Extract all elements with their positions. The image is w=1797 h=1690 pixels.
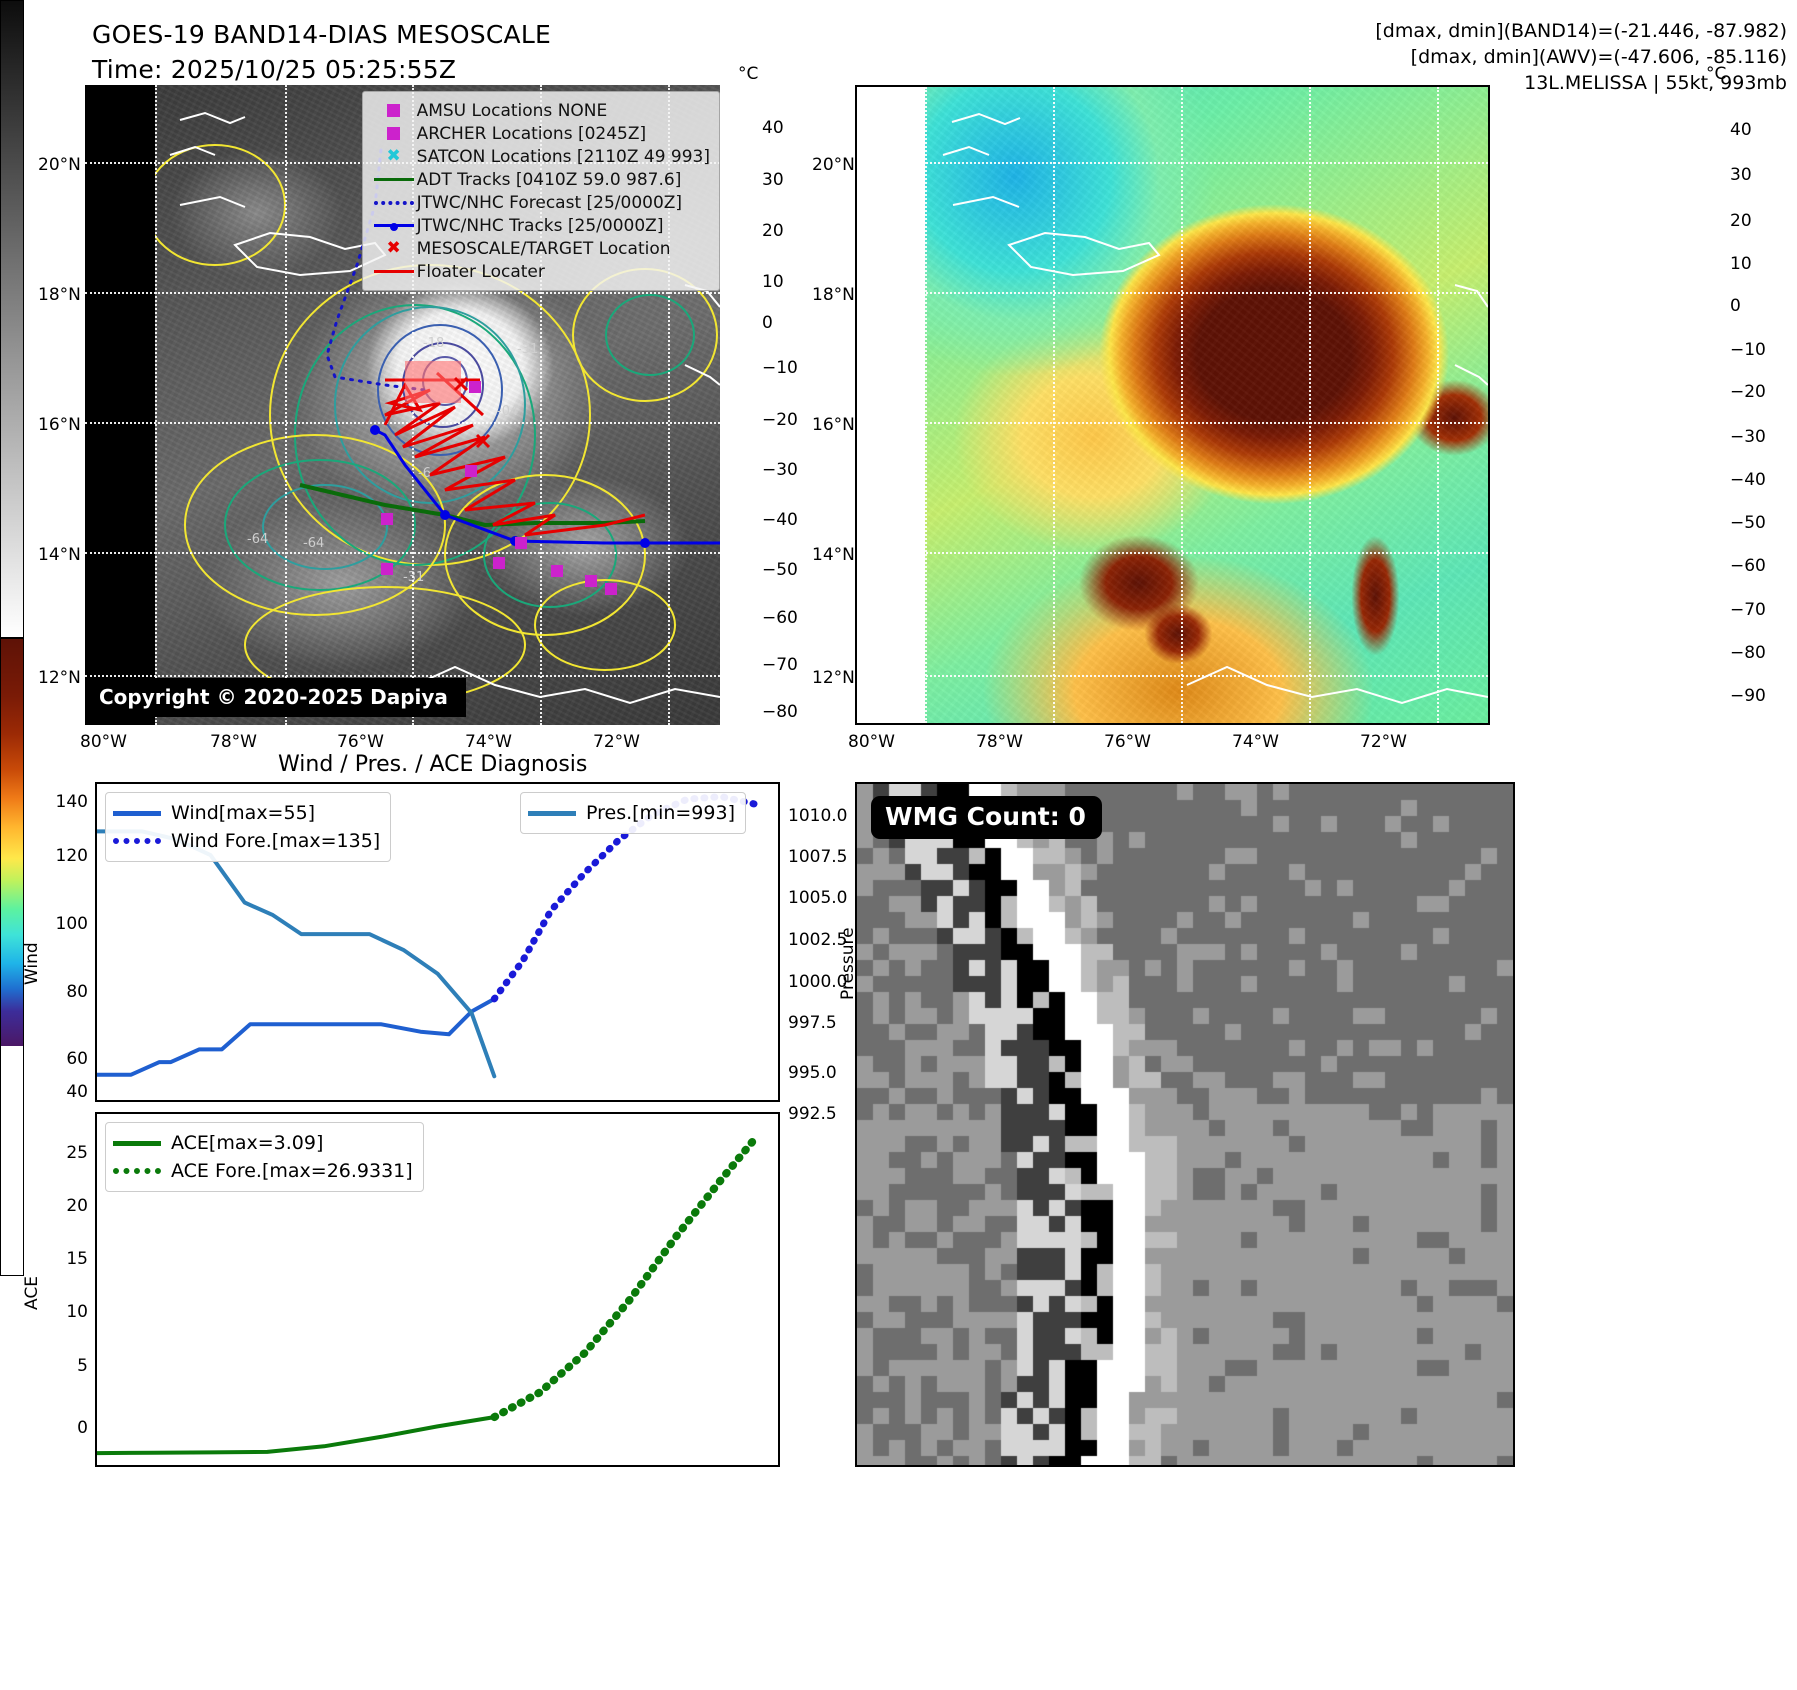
awv-cb-tick: −80 (1730, 643, 1766, 663)
awv-cb-tick: 0 (1730, 296, 1741, 316)
legend-item: Wind Fore.[max=135] (113, 827, 380, 855)
ir-cb-tick: −40 (762, 510, 798, 530)
awv-lon-tick: 72°W (1360, 732, 1407, 752)
ir-cb-tick: −80 (762, 702, 798, 722)
awv-lat-tick: 12°N (812, 668, 855, 688)
copyright-banner: Copyright © 2020-2025 Dapiya (85, 678, 466, 717)
wmg-mosaic-panel[interactable]: WMG Count: 0 (855, 782, 1515, 1467)
awv-colorbar (0, 638, 24, 1276)
wmg-count-badge: WMG Count: 0 (871, 796, 1102, 839)
awv-lat-tick: 18°N (812, 285, 855, 305)
awv-lon-tick: 76°W (1104, 732, 1151, 752)
legend-item: Floater Locater (371, 260, 710, 283)
awv-cb-tick: 40 (1730, 120, 1752, 140)
ir-lon-tick: 76°W (337, 732, 384, 752)
legend-item: AMSU Locations NONE (371, 99, 710, 122)
legend-item: JTWC/NHC Forecast [25/0000Z] (371, 191, 710, 214)
magenta-square-icon (371, 127, 417, 140)
page-title: GOES-19 BAND14-DIAS MESOSCALE Time: 2025… (92, 18, 551, 87)
wmg-mosaic-image (857, 784, 1513, 1465)
wind-ytick: 140 (40, 792, 88, 812)
ace-solid-line-icon (113, 1141, 171, 1146)
legend-item: Wind[max=55] (113, 799, 380, 827)
pressure-legend: Pres.[min=993] (520, 792, 746, 834)
ir-cb-tick: 40 (762, 118, 784, 138)
ir-lon-tick: 72°W (593, 732, 640, 752)
awv-lon-tick: 80°W (848, 732, 895, 752)
wind-ytick: 100 (40, 914, 88, 934)
wind-ytick: 40 (40, 1082, 88, 1102)
ir-lon-tick: 80°W (80, 732, 127, 752)
pres-ytick: 992.5 (788, 1104, 837, 1124)
ir-map-legend: AMSU Locations NONE ARCHER Locations [02… (362, 91, 720, 291)
title-line-2: Time: 2025/10/25 05:25:55Z (92, 53, 551, 88)
ir-colorbar-unit: °C (738, 64, 758, 84)
awv-lon-tick: 78°W (976, 732, 1023, 752)
wind-axis-label: Wind (22, 942, 42, 985)
ir-colorbar (0, 0, 24, 638)
wind-forecast-dotted-line-icon (113, 838, 171, 844)
awv-lat-tick: 20°N (812, 155, 855, 175)
legend-item: ACE[max=3.09] (113, 1129, 413, 1157)
wind-pressure-chart[interactable]: Wind[max=55] Wind Fore.[max=135] Pres.[m… (95, 782, 780, 1102)
awv-cb-tick: 10 (1730, 254, 1752, 274)
wind-legend: Wind[max=55] Wind Fore.[max=135] (105, 792, 391, 862)
ir-lat-tick: 16°N (38, 415, 81, 435)
ace-ytick: 15 (40, 1249, 88, 1269)
pres-ytick: 1010.0 (788, 806, 847, 826)
legend-item: ADT Tracks [0410Z 59.0 987.6] (371, 168, 710, 191)
ir-cb-tick: −10 (762, 358, 798, 378)
ir-cb-tick: −60 (762, 608, 798, 628)
blue-dotted-line-icon (371, 201, 417, 205)
ace-legend: ACE[max=3.09] ACE Fore.[max=26.9331] (105, 1122, 424, 1192)
ir-lon-tick: 74°W (465, 732, 512, 752)
awv-cb-tick: −50 (1730, 513, 1766, 533)
awv-lat-tick: 16°N (812, 415, 855, 435)
ir-cb-tick: −30 (762, 460, 798, 480)
wind-solid-line-icon (113, 811, 171, 816)
cyan-x-icon: ✖ (371, 148, 417, 165)
title-line-1: GOES-19 BAND14-DIAS MESOSCALE (92, 18, 551, 53)
awv-cb-tick: 20 (1730, 211, 1752, 231)
ace-ytick: 5 (40, 1356, 88, 1376)
awv-lat-tick: 14°N (812, 545, 855, 565)
ace-chart[interactable]: ACE[max=3.09] ACE Fore.[max=26.9331] (95, 1112, 780, 1467)
awv-cb-tick: −60 (1730, 556, 1766, 576)
pres-ytick: 1000.0 (788, 972, 847, 992)
ir-lat-tick: 14°N (38, 545, 81, 565)
ir-cb-tick: −20 (762, 410, 798, 430)
ir-lat-tick: 12°N (38, 668, 81, 688)
ir-cb-tick: 0 (762, 313, 773, 333)
legend-item: ARCHER Locations [0245Z] (371, 122, 710, 145)
awv-satellite-map[interactable] (855, 85, 1490, 725)
wind-ytick: 60 (40, 1049, 88, 1069)
pressure-solid-line-icon (528, 811, 586, 816)
legend-item: JTWC/NHC Tracks [25/0000Z] (371, 214, 710, 237)
ace-forecast-dotted-line-icon (113, 1168, 171, 1174)
awv-cb-tick: −40 (1730, 470, 1766, 490)
legend-item: Pres.[min=993] (528, 799, 735, 827)
wind-ytick: 80 (40, 982, 88, 1002)
pres-ytick: 1005.0 (788, 888, 847, 908)
pres-ytick: 997.5 (788, 1013, 837, 1033)
green-line-icon (371, 178, 417, 181)
wind-ytick: 120 (40, 846, 88, 866)
ace-ytick: 0 (40, 1418, 88, 1438)
ir-lon-tick: 78°W (210, 732, 257, 752)
ir-cb-tick: 20 (762, 221, 784, 241)
blue-line-marker-icon (371, 224, 417, 227)
ir-cb-tick: 10 (762, 272, 784, 292)
red-line-icon (371, 270, 417, 273)
awv-cb-tick: −30 (1730, 427, 1766, 447)
ace-ytick: 20 (40, 1196, 88, 1216)
ace-ytick: 25 (40, 1143, 88, 1163)
ir-cb-tick: −70 (762, 655, 798, 675)
awv-cb-tick: −10 (1730, 340, 1766, 360)
pres-ytick: 995.0 (788, 1063, 837, 1083)
awv-cb-tick: −90 (1730, 686, 1766, 706)
ir-lat-tick: 18°N (38, 285, 81, 305)
legend-item: ACE Fore.[max=26.9331] (113, 1157, 413, 1185)
legend-item: ✖ SATCON Locations [2110Z 49 993] (371, 145, 710, 168)
red-x-icon: ✖ (371, 240, 417, 257)
awv-cb-tick: −70 (1730, 600, 1766, 620)
ir-lat-tick: 20°N (38, 155, 81, 175)
awv-cb-tick: −20 (1730, 382, 1766, 402)
magenta-square-icon (371, 104, 417, 117)
meta-band14-range: [dmax, dmin](BAND14)=(-21.446, -87.982) (1375, 18, 1787, 44)
wind-pres-ace-title: Wind / Pres. / ACE Diagnosis (278, 752, 587, 777)
awv-colorbar-unit: °C (1706, 64, 1726, 84)
ir-satellite-map[interactable]: -18 -04 -6 -64 -64 -31 -31 (85, 85, 720, 725)
awv-lon-tick: 74°W (1232, 732, 1279, 752)
pres-ytick: 1002.5 (788, 930, 847, 950)
pres-ytick: 1007.5 (788, 847, 847, 867)
awv-coastline-overlay (857, 87, 1488, 723)
ir-cb-tick: −50 (762, 560, 798, 580)
ace-axis-label: ACE (22, 1276, 42, 1310)
legend-item: ✖ MESOSCALE/TARGET Location (371, 237, 710, 260)
ace-ytick: 10 (40, 1302, 88, 1322)
awv-cb-tick: 30 (1730, 165, 1752, 185)
ir-cb-tick: 30 (762, 170, 784, 190)
